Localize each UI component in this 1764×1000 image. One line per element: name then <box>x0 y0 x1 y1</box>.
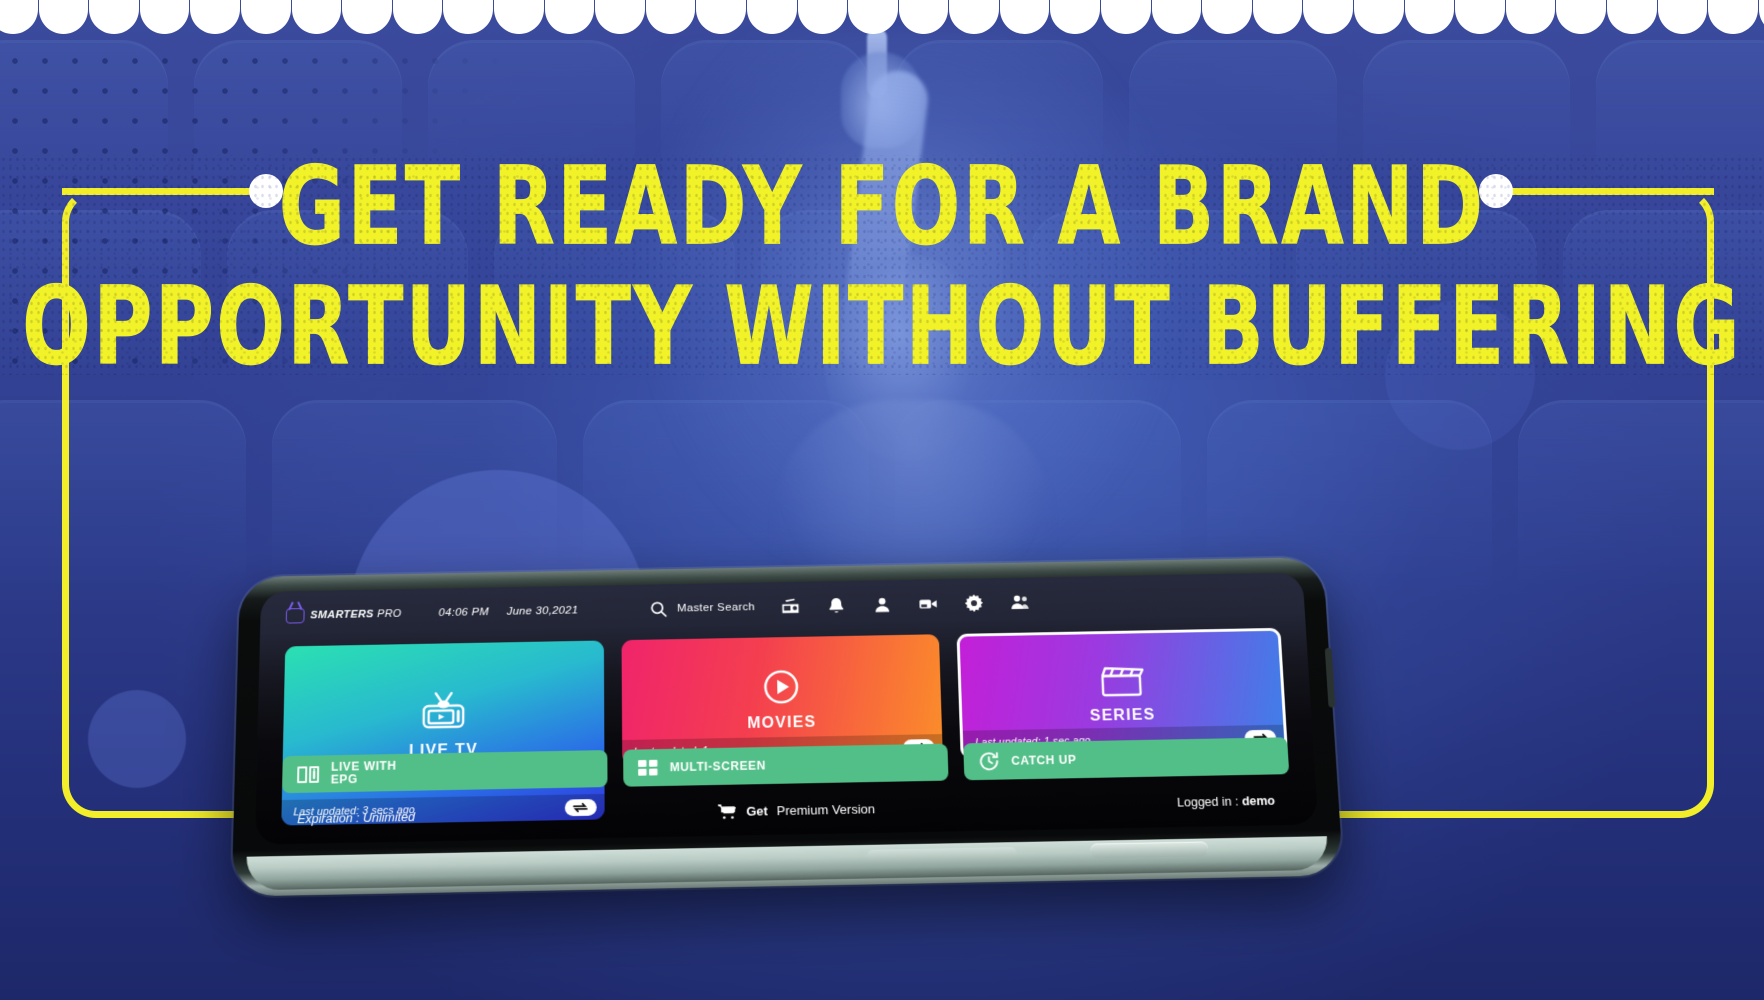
button-label-live-with-epg: LIVE WITHEPG <box>331 760 397 786</box>
bell-icon[interactable] <box>826 596 846 615</box>
gear-icon[interactable] <box>964 594 984 613</box>
premium-version-label: Premium Version <box>777 801 876 818</box>
app-logo-text: SMARTERS PRO <box>310 608 401 621</box>
expiration-label: Expiration : Unlimited <box>297 810 415 826</box>
search-icon <box>649 599 669 618</box>
get-label: Get <box>746 803 768 818</box>
clock: 04:06 PM <box>438 607 489 619</box>
phone-mockup: SMARTERS PRO 04:06 PM June 30,2021 Maste… <box>232 557 1344 897</box>
button-multi-screen[interactable]: MULTI-SCREEN <box>623 744 948 787</box>
button-label-catch-up: CATCH UP <box>1011 753 1077 767</box>
premium-version-link[interactable]: Get Premium Version <box>415 794 1178 825</box>
tv-antenna-icon <box>286 608 305 624</box>
app-logo: SMARTERS PRO <box>286 606 415 624</box>
phone-button <box>1090 841 1208 858</box>
tv-play-icon <box>416 691 472 734</box>
card-title-series: SERIES <box>1090 706 1156 725</box>
clock-rewind-icon <box>977 750 1001 772</box>
button-live-with-epg[interactable]: LIVE WITHEPG <box>282 750 608 793</box>
headline-line-1: GET READY FOR A BRAND <box>0 155 1764 262</box>
date: June 30,2021 <box>507 605 579 618</box>
radio-icon[interactable] <box>780 597 800 616</box>
button-label-multi-screen: MULTI-SCREEN <box>670 759 766 773</box>
master-search[interactable]: Master Search <box>649 598 756 619</box>
card-title-movies: MOVIES <box>747 714 816 733</box>
phone-speaker-grille <box>867 847 1017 862</box>
video-camera-icon[interactable] <box>918 594 938 613</box>
banner-stage: GET READY FOR A BRAND OPPORTUNITY WITHOU… <box>0 0 1764 1000</box>
grid-icon <box>637 758 659 778</box>
button-catch-up[interactable]: CATCH UP <box>963 737 1289 780</box>
person-icon[interactable] <box>872 595 892 614</box>
multi-user-icon[interactable] <box>1010 593 1030 612</box>
scalloped-top-edge <box>0 0 1764 34</box>
clapperboard-icon <box>1098 661 1145 698</box>
logged-in-label: Logged in : <box>1177 795 1239 810</box>
master-search-label: Master Search <box>677 602 755 615</box>
play-circle-icon <box>761 667 801 706</box>
epg-book-icon <box>296 764 320 784</box>
logged-in-user: demo <box>1242 794 1276 808</box>
headline: GET READY FOR A BRAND OPPORTUNITY WITHOU… <box>0 155 1764 352</box>
iptv-app: SMARTERS PRO 04:06 PM June 30,2021 Maste… <box>255 572 1318 844</box>
phone-screen: SMARTERS PRO 04:06 PM June 30,2021 Maste… <box>255 572 1318 844</box>
logged-in-status: Logged in : demo <box>1177 794 1276 810</box>
headline-line-2: OPPORTUNITY WITHOUT BUFFERING <box>0 275 1764 382</box>
topbar-icons <box>780 593 1030 617</box>
cart-icon <box>717 803 737 820</box>
